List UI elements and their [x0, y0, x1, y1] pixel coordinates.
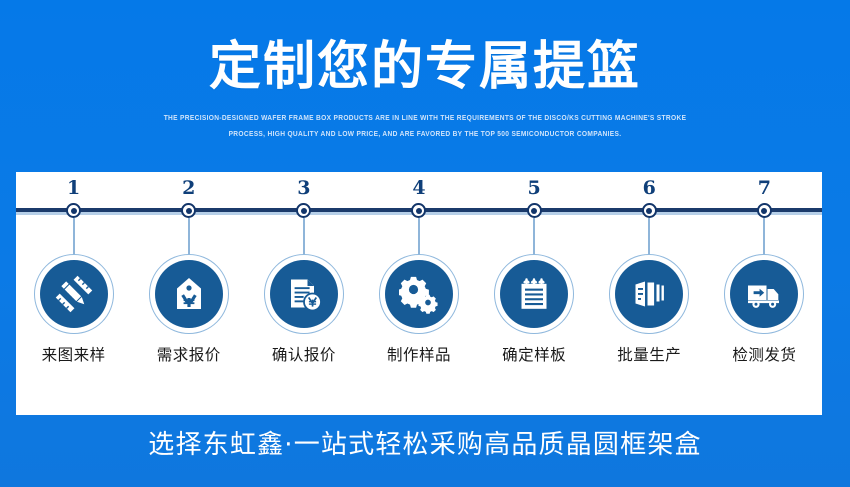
step-number: 4 — [361, 176, 476, 200]
step-badge[interactable] — [379, 254, 459, 334]
step-label: 需求报价 — [131, 344, 246, 366]
timeline-node — [527, 203, 542, 218]
process-panel: 1 — [16, 172, 822, 415]
step-number: 1 — [16, 176, 131, 200]
timeline-node — [757, 203, 772, 218]
badge-circle — [730, 260, 798, 328]
timeline-node — [181, 203, 196, 218]
step-badge[interactable] — [34, 254, 114, 334]
badge-circle — [40, 260, 108, 328]
step-badge[interactable] — [264, 254, 344, 334]
badge-circle — [155, 260, 223, 328]
process-step-6[interactable]: 6 — [592, 172, 707, 415]
step-badge[interactable] — [724, 254, 804, 334]
step-label: 确定样板 — [477, 344, 592, 366]
delivery-truck-icon — [744, 274, 784, 314]
step-number: 6 — [592, 176, 707, 200]
step-number: 2 — [131, 176, 246, 200]
badge-circle — [500, 260, 568, 328]
step-label: 检测发货 — [707, 344, 822, 366]
footer-tagline: 选择东虹鑫·一站式轻松采购高品质晶圆框架盒 — [0, 425, 850, 465]
step-number: 7 — [707, 176, 822, 200]
badge-circle — [385, 260, 453, 328]
badge-circle — [270, 260, 338, 328]
badge-circle — [615, 260, 683, 328]
step-label: 确认报价 — [246, 344, 361, 366]
process-step-7[interactable]: 7 — [707, 172, 822, 415]
banner-footer: 选择东虹鑫·一站式轻松采购高品质晶圆框架盒 — [0, 425, 850, 487]
timeline-node — [411, 203, 426, 218]
step-number: 3 — [246, 176, 361, 200]
step-label: 批量生产 — [592, 344, 707, 366]
header-subtitle: THE PRECISION-DESIGNED WAFER FRAME BOX P… — [149, 110, 701, 142]
step-label: 来图来样 — [16, 344, 131, 366]
gears-icon — [399, 274, 439, 314]
pencil-ruler-icon — [54, 274, 94, 314]
document-yen-icon — [284, 274, 324, 314]
page-title: 定制您的专属提篮 — [0, 38, 850, 96]
process-step-4[interactable]: 4 — [361, 172, 476, 415]
step-badge[interactable] — [609, 254, 689, 334]
price-tag-yen-icon — [169, 274, 209, 314]
timeline-node — [642, 203, 657, 218]
notepad-icon — [514, 274, 554, 314]
step-number: 5 — [477, 176, 592, 200]
step-badge[interactable] — [149, 254, 229, 334]
banner-header: 定制您的专属提篮 THE PRECISION-DESIGNED WAFER FR… — [0, 0, 850, 165]
step-label: 制作样品 — [361, 344, 476, 366]
promo-banner: 定制您的专属提篮 THE PRECISION-DESIGNED WAFER FR… — [0, 0, 850, 487]
process-step-3[interactable]: 3 — [246, 172, 361, 415]
production-bars-icon — [629, 274, 669, 314]
process-steps: 1 — [16, 172, 822, 415]
process-step-5[interactable]: 5 — [477, 172, 592, 415]
process-step-1[interactable]: 1 — [16, 172, 131, 415]
timeline-node — [296, 203, 311, 218]
process-step-2[interactable]: 2 — [131, 172, 246, 415]
step-badge[interactable] — [494, 254, 574, 334]
timeline-node — [66, 203, 81, 218]
